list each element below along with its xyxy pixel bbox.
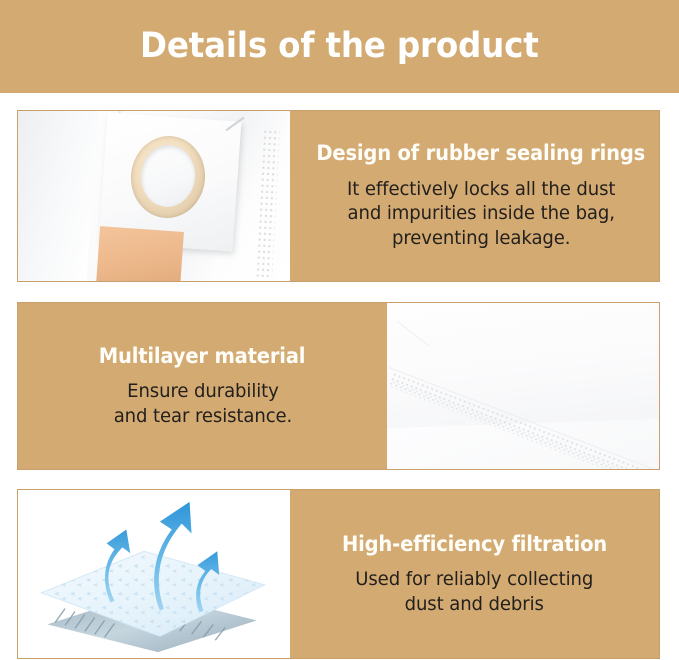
panel-heading: Multilayer material <box>99 344 306 368</box>
filter-diagram-backdrop <box>18 490 290 658</box>
feature-panel-high-efficiency-filtration: High-efficiency filtration Used for reli… <box>17 489 660 659</box>
panel-list: Design of rubber sealing rings It effect… <box>0 93 679 660</box>
page-title: Details of the product <box>140 29 539 64</box>
panel-text-multilayer-material: Multilayer material Ensure durability an… <box>18 303 387 469</box>
panel-body: Ensure durability and tear resistance. <box>113 379 291 428</box>
body-line: Used for reliably collecting <box>356 567 594 592</box>
bag-fold-shape <box>18 111 99 281</box>
feature-panel-multilayer-material: Multilayer material Ensure durability an… <box>17 302 660 470</box>
panel-heading: Design of rubber sealing rings <box>316 141 645 165</box>
fabric-photo-backdrop <box>387 303 659 469</box>
body-line: dust and debris <box>356 592 594 617</box>
filtration-airflow-diagram <box>18 490 290 658</box>
bag-photo-backdrop <box>18 111 290 281</box>
multilayer-fabric-seam-photo <box>387 303 659 469</box>
body-line: Ensure durability <box>113 379 291 404</box>
bag-tan-tab <box>96 226 184 281</box>
body-line: It effectively locks all the dust <box>347 177 615 202</box>
panel-text-sealing-rings: Design of rubber sealing rings It effect… <box>290 111 660 281</box>
body-line: and impurities inside the bag, <box>347 201 615 226</box>
panel-body: It effectively locks all the dust and im… <box>347 177 615 251</box>
vacuum-bag-sealing-ring-photo <box>18 111 290 281</box>
product-details-infographic: Details of the product Design of rubber … <box>0 0 679 660</box>
panel-body: Used for reliably collecting dust and de… <box>356 567 594 616</box>
panel-text-high-efficiency-filtration: High-efficiency filtration Used for reli… <box>290 490 659 658</box>
panel-heading: High-efficiency filtration <box>342 532 607 556</box>
feature-panel-sealing-rings: Design of rubber sealing rings It effect… <box>17 110 660 282</box>
header-band: Details of the product <box>0 0 679 93</box>
body-line: preventing leakage. <box>347 226 615 251</box>
filtration-layers-illustration <box>18 490 290 658</box>
bag-perforation-strip <box>255 129 280 280</box>
fabric-upper-surface <box>387 303 659 429</box>
body-line: and tear resistance. <box>113 404 291 429</box>
